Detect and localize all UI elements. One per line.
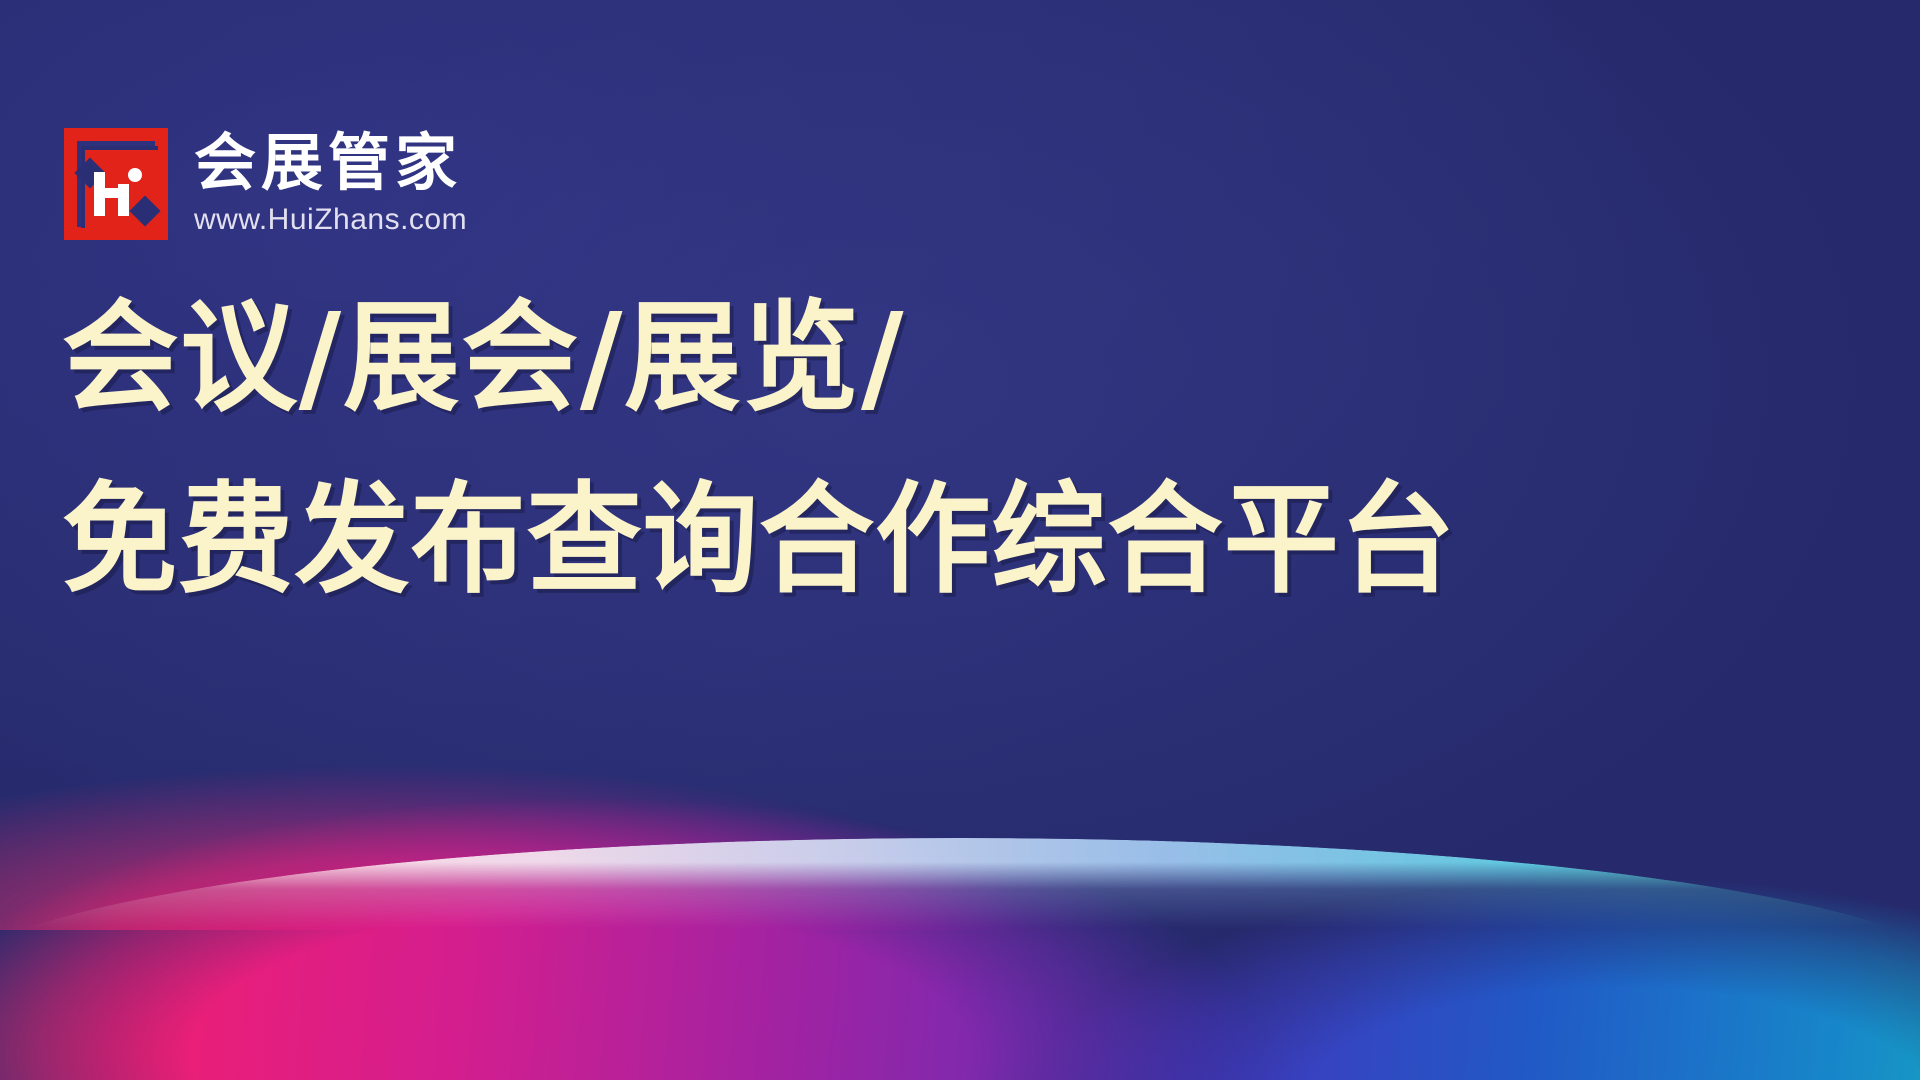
logo-hi-glyph xyxy=(94,166,140,216)
brand-website-url[interactable]: www.HuiZhans.com xyxy=(194,203,467,237)
particle-wave-mesh xyxy=(0,650,1920,1080)
hi-monogram-icon xyxy=(64,128,168,240)
brand-text-group: 会展管家 www.HuiZhans.com xyxy=(194,128,467,237)
headline-line-2: 免费发布查询合作综合平台 xyxy=(62,474,1752,608)
headline-line-1: 会议/展会/展览/ xyxy=(62,292,1769,426)
hi-glyph-dot xyxy=(128,168,142,182)
banner-canvas: 会展管家 www.HuiZhans.com 会议/展会/展览/ 免费发布查询合作… xyxy=(0,0,1920,1080)
brand-logo-lockup[interactable]: 会展管家 www.HuiZhans.com xyxy=(64,128,467,240)
wave-mesh-group xyxy=(0,650,1920,1080)
headline-block: 会议/展会/展览/ 免费发布查询合作综合平台 xyxy=(62,292,1822,609)
hi-glyph-right-stem xyxy=(118,184,129,216)
brand-name: 会展管家 xyxy=(194,132,467,194)
